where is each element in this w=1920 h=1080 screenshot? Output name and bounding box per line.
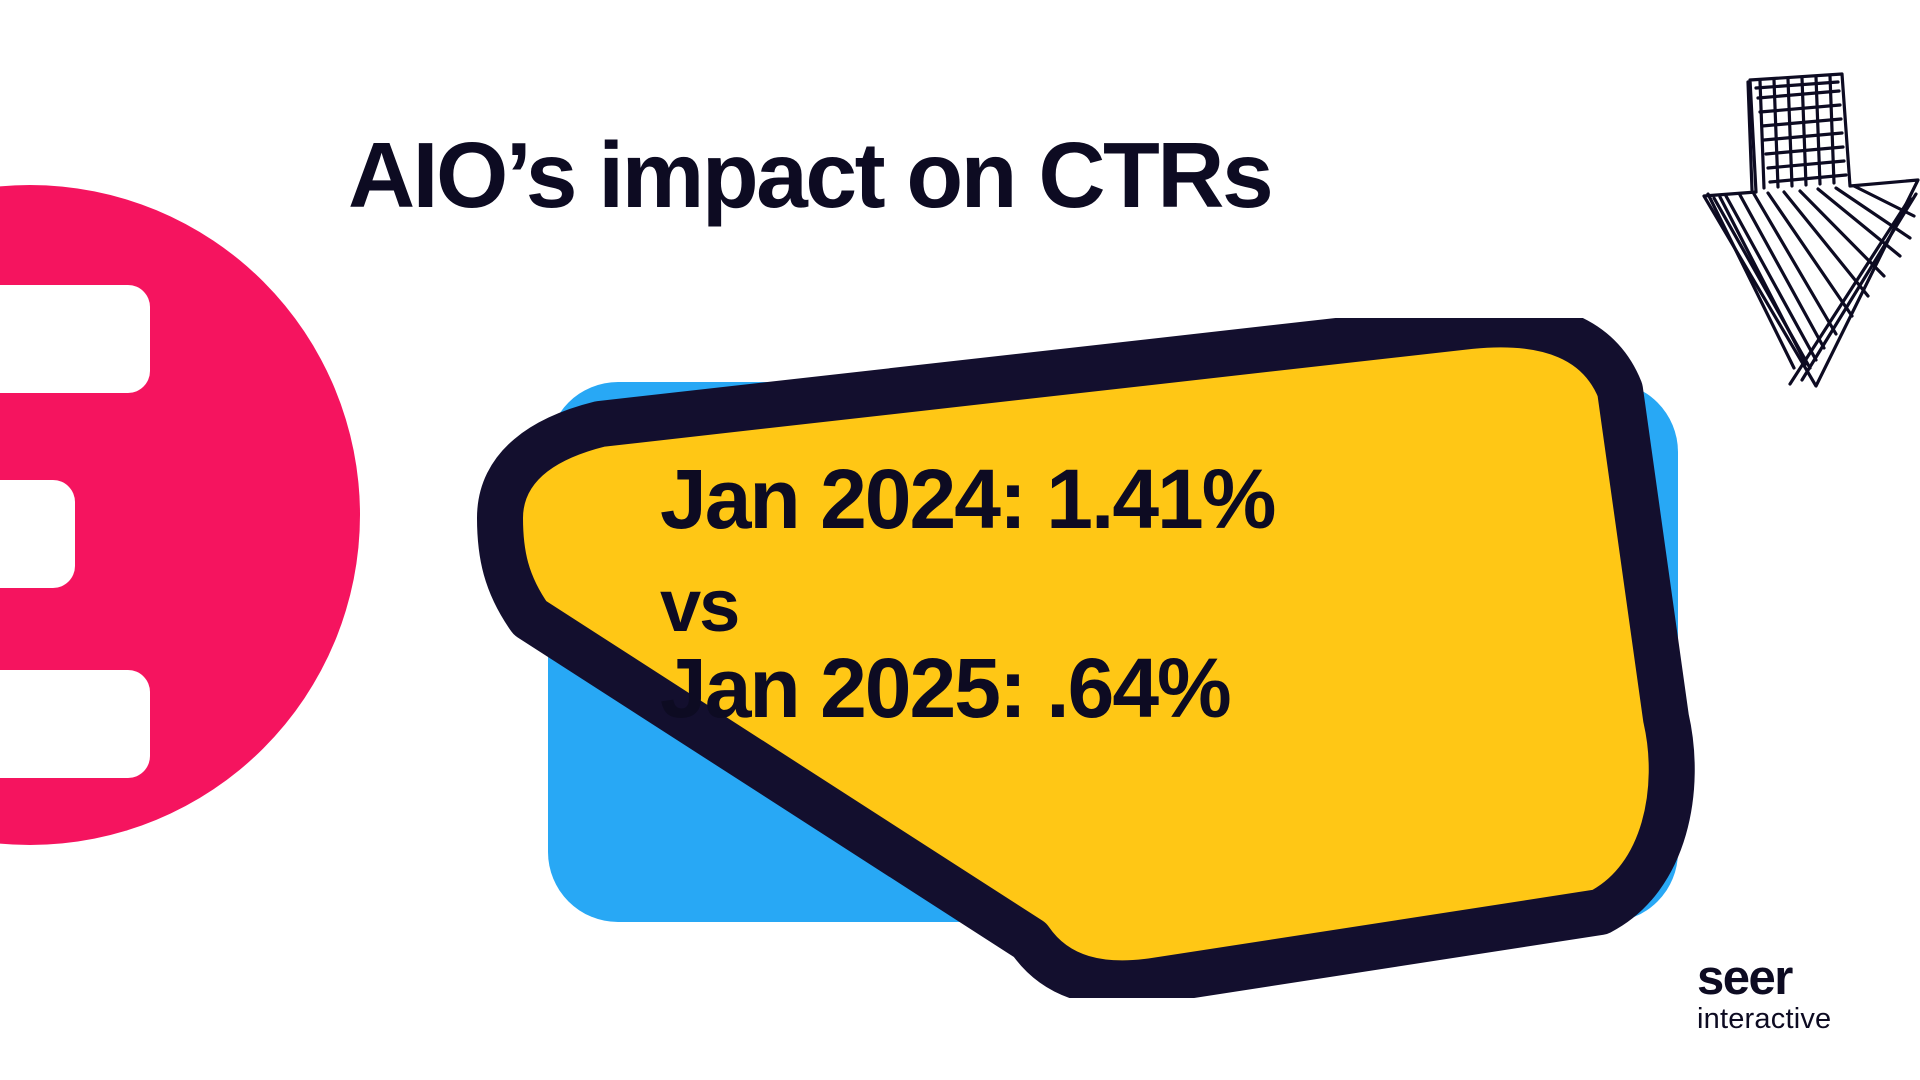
brand-monogram-bar-bottom bbox=[0, 670, 150, 778]
callout-line-vs: vs bbox=[660, 565, 1660, 648]
seer-interactive-logo: seer interactive bbox=[1697, 955, 1831, 1035]
logo-wordmark: seer bbox=[1697, 955, 1831, 1002]
hand-drawn-down-arrow-icon bbox=[1690, 68, 1920, 398]
page-title: AIO’s impact on CTRs bbox=[348, 122, 1271, 229]
callout-text-block: Jan 2024: 1.41% vs Jan 2025: .64% bbox=[660, 455, 1660, 734]
brand-monogram-bar-top bbox=[0, 285, 150, 393]
brand-monogram-bar-middle bbox=[0, 480, 75, 588]
callout-line-jan-2024: Jan 2024: 1.41% bbox=[660, 455, 1660, 545]
callout-line-jan-2025: Jan 2025: .64% bbox=[660, 644, 1660, 734]
logo-subtitle: interactive bbox=[1697, 1004, 1831, 1036]
infographic-canvas: AIO’s impact on CTRs Jan 2024: 1.41% vs … bbox=[0, 0, 1920, 1080]
